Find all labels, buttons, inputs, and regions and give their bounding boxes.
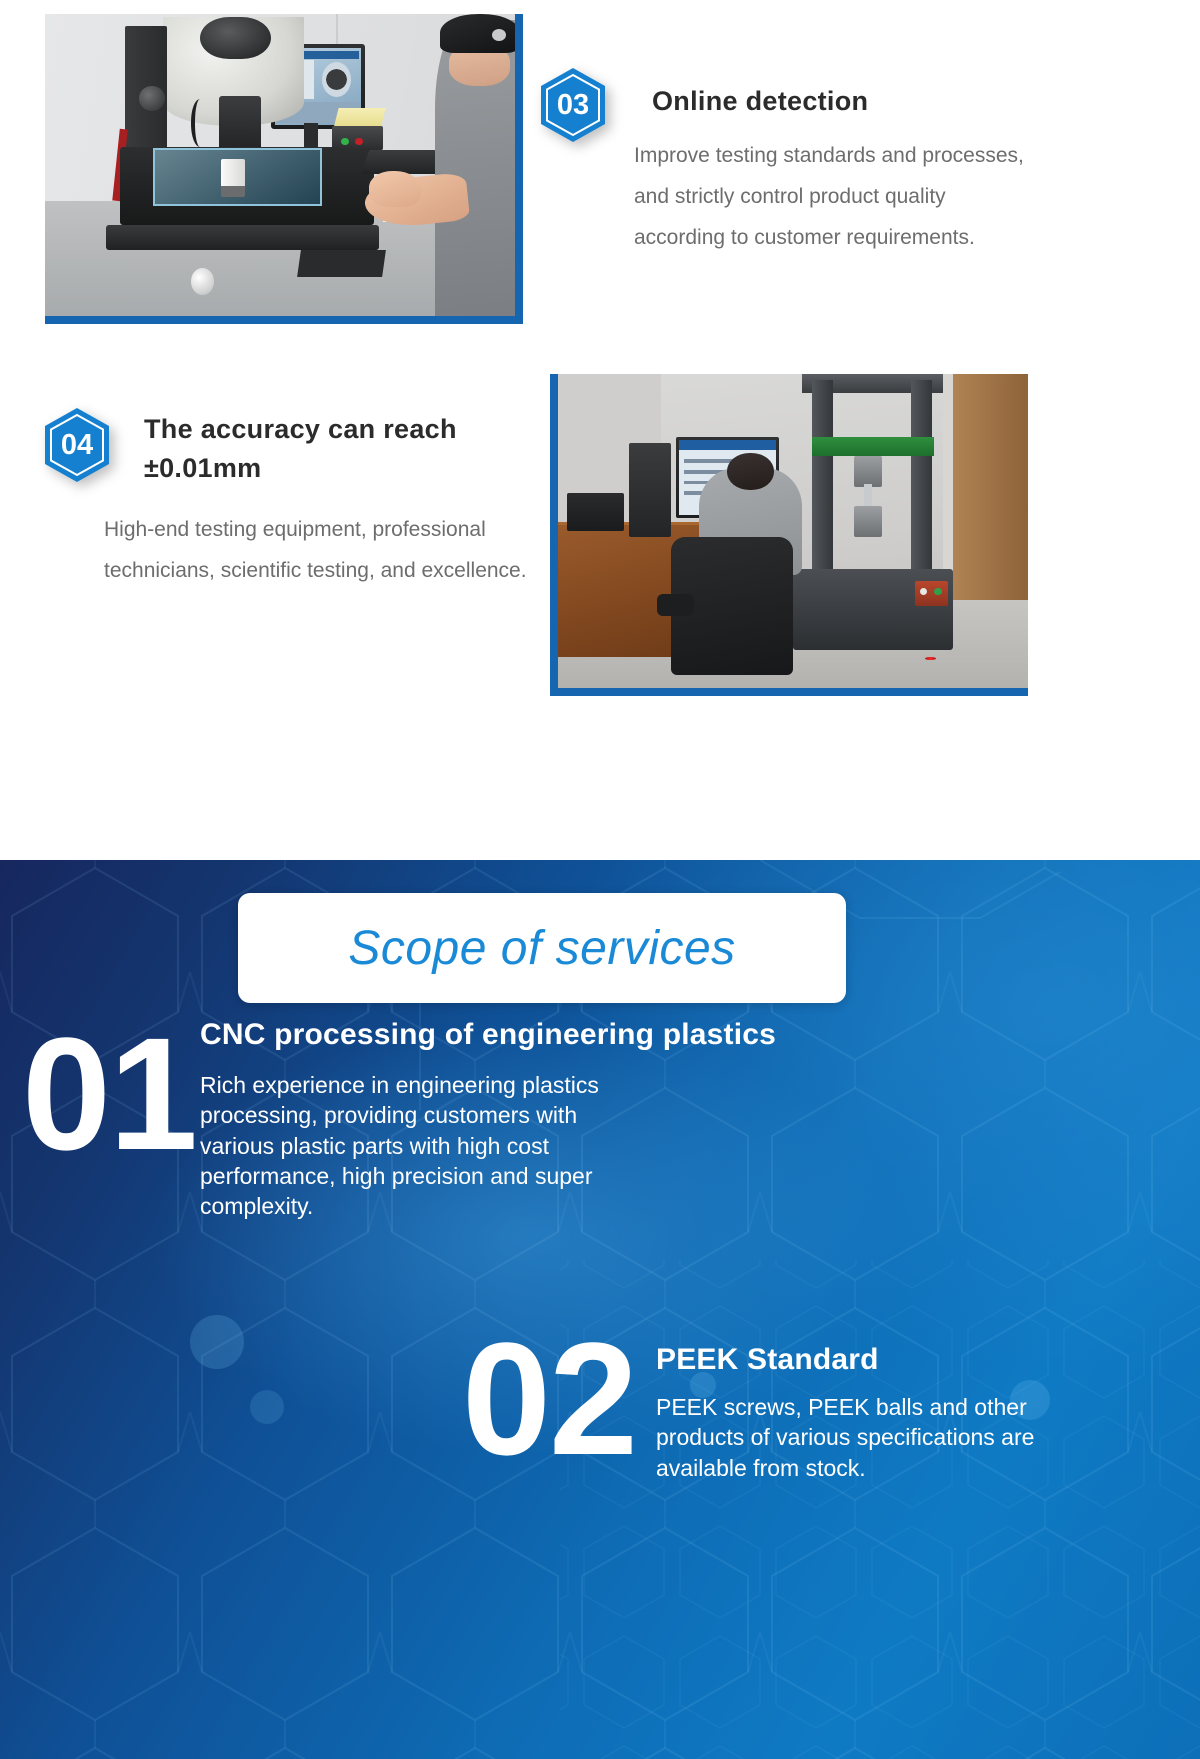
scope-item-02-number: 02 <box>462 1325 636 1472</box>
feature-badge-03-number: 03 <box>557 89 589 121</box>
features-section: 03 Online detection Improve testing stan… <box>0 0 1200 860</box>
scope-item-02-body: PEEK screws, PEEK balls and other produc… <box>656 1392 1068 1483</box>
tensile-testing-machine-scene <box>558 374 1028 688</box>
online-detection-photo <box>45 14 515 316</box>
optical-measuring-machine-scene <box>45 14 515 316</box>
feature-04-title: The accuracy can reach ±0.01mm <box>144 410 544 488</box>
feature-04-body: High-end testing equipment, professional… <box>104 510 544 592</box>
feature-badge-03: 03 <box>538 66 608 144</box>
scope-item-02-heading: PEEK Standard <box>656 1343 1076 1377</box>
feature-badge-04-number: 04 <box>61 429 93 461</box>
scope-title: Scope of services <box>348 921 735 976</box>
feature-badge-04: 04 <box>42 406 112 484</box>
online-detection-photo-frame <box>45 14 523 324</box>
scope-item-01-number: 01 <box>22 1020 196 1167</box>
feature-03-title: Online detection <box>652 82 1052 121</box>
accuracy-testing-photo <box>558 374 1028 688</box>
feature-03-body: Improve testing standards and processes,… <box>634 136 1024 259</box>
scope-title-card: Scope of services <box>238 893 846 1003</box>
scope-item-01-heading: CNC processing of engineering plastics <box>200 1018 960 1052</box>
scope-item-01-body: Rich experience in engineering plastics … <box>200 1070 630 1222</box>
accuracy-testing-photo-frame <box>550 374 1028 696</box>
